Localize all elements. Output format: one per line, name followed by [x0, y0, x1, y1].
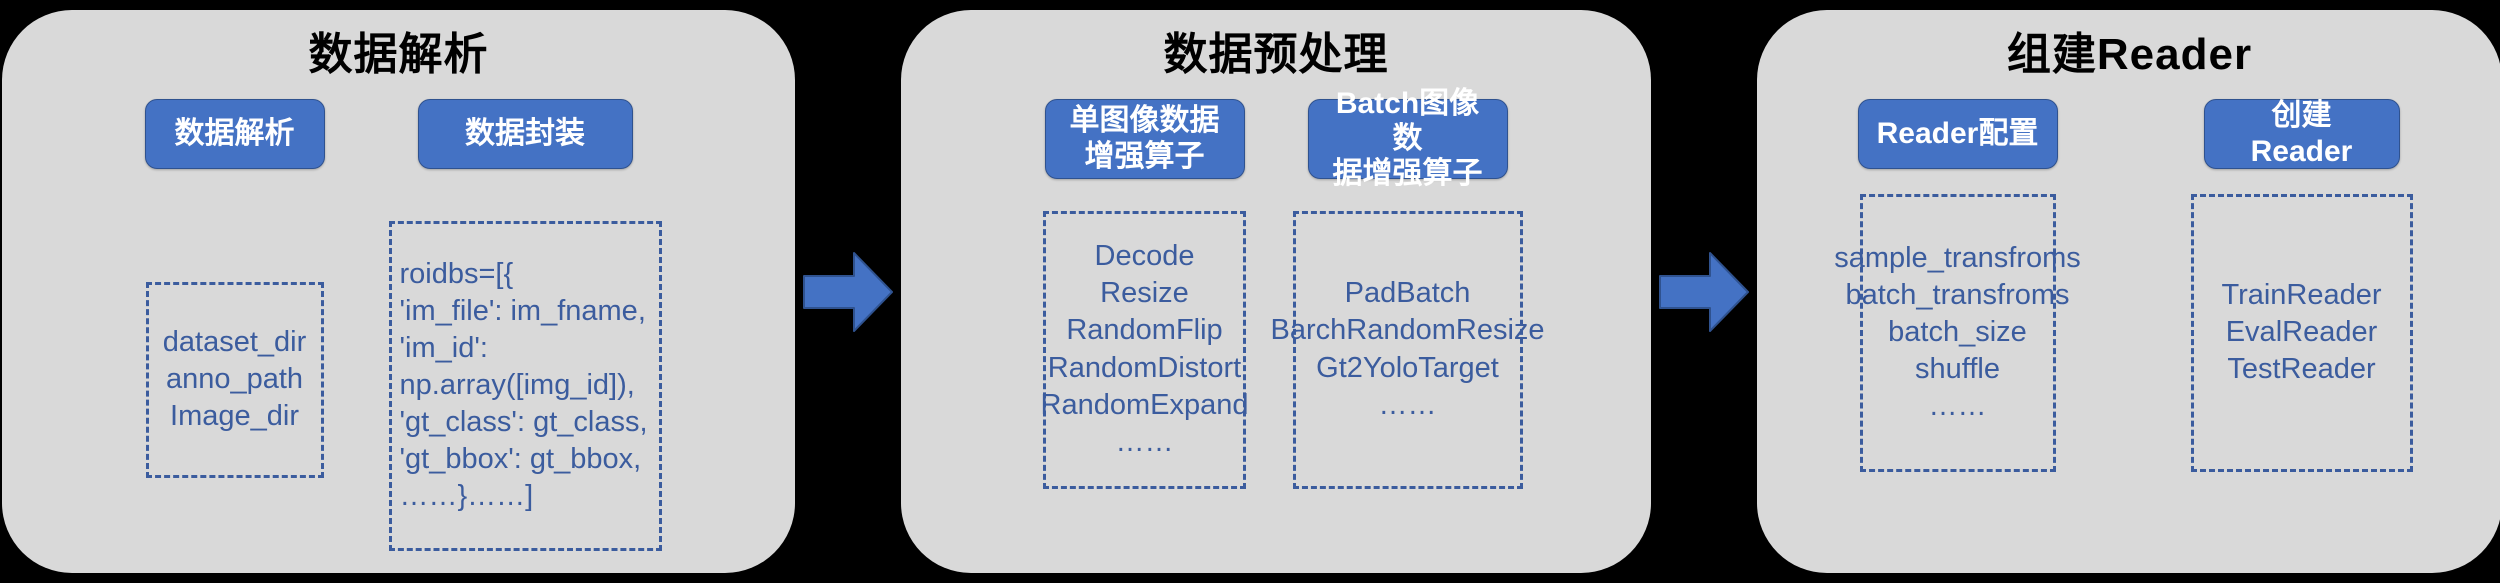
column-batch-image-aug: Batch图像数 据增强算子 PadBatch BarchRandomResiz… — [1290, 81, 1525, 489]
stage-panel-build-reader: 组建Reader Reader配置 sample_transfroms batc… — [1757, 10, 2500, 573]
column-data-encapsulation: 数据封装 roidbs=[{ 'im_file': im_fname, 'im_… — [380, 81, 670, 551]
button-single-image-augment[interactable]: 单图像数据 增强算子 — [1045, 99, 1245, 179]
detail-box-data-parsing: dataset_dir anno_path Image_dir — [146, 282, 324, 478]
stage-panel-data-parsing: 数据解析 数据解析 dataset_dir anno_path Image_di… — [2, 10, 795, 573]
detail-box-roidbs: roidbs=[{ 'im_file': im_fname, 'im_id': … — [389, 221, 662, 551]
detail-box-single-image-ops: Decode Resize RandomFlip RandomDistort R… — [1043, 211, 1246, 489]
panel-columns: 数据解析 dataset_dir anno_path Image_dir 数据封… — [2, 81, 795, 551]
panel-title-data-parsing: 数据解析 — [2, 10, 795, 81]
panel-columns: 单图像数据 增强算子 Decode Resize RandomFlip Rand… — [901, 81, 1651, 551]
detail-box-batch-image-ops: PadBatch BarchRandomResize Gt2YoloTarget… — [1293, 211, 1523, 489]
button-batch-image-augment[interactable]: Batch图像数 据增强算子 — [1308, 99, 1508, 179]
column-reader-config: Reader配置 sample_transfroms batch_transfr… — [1793, 81, 2123, 472]
panel-title-build-reader: 组建Reader — [1757, 10, 2500, 81]
button-data-encapsulation[interactable]: 数据封装 — [418, 99, 633, 169]
arrow-2-wrap — [1651, 249, 1757, 335]
button-data-parsing[interactable]: 数据解析 — [145, 99, 325, 169]
arrow-right-icon — [802, 249, 894, 335]
arrow-1-wrap — [795, 249, 901, 335]
column-create-reader: 创建Reader TrainReader EvalReader TestRead… — [2137, 81, 2467, 472]
arrow-right-icon — [1658, 249, 1750, 335]
column-data-parsing: 数据解析 dataset_dir anno_path Image_dir — [127, 81, 342, 478]
stage-panel-data-preprocessing: 数据预处理 单图像数据 增强算子 Decode Resize RandomFli… — [901, 10, 1651, 573]
detail-box-reader-types: TrainReader EvalReader TestReader — [2191, 194, 2413, 472]
flow-diagram: 数据解析 数据解析 dataset_dir anno_path Image_di… — [0, 0, 2500, 583]
panel-title-data-preprocessing: 数据预处理 — [901, 10, 1651, 81]
column-single-image-aug: 单图像数据 增强算子 Decode Resize RandomFlip Rand… — [1027, 81, 1262, 489]
button-create-reader[interactable]: 创建Reader — [2204, 99, 2400, 169]
detail-box-reader-config: sample_transfroms batch_transfroms batch… — [1860, 194, 2056, 472]
panel-columns: Reader配置 sample_transfroms batch_transfr… — [1757, 81, 2500, 551]
button-reader-config[interactable]: Reader配置 — [1858, 99, 2058, 169]
